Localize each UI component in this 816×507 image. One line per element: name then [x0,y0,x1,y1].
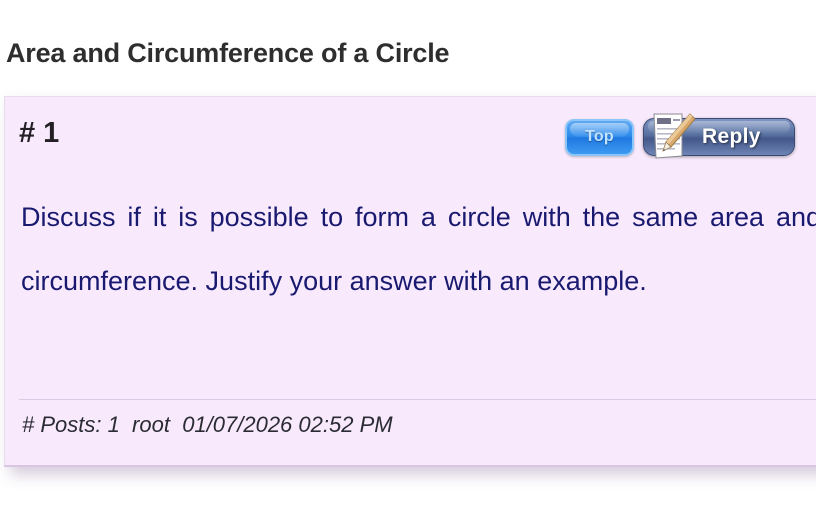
post-card: # 1 Top [4,96,816,467]
reply-button-label: Reply [702,125,761,149]
post-action-buttons: Top [565,118,795,156]
document-pencil-icon [646,110,698,162]
post-header: # 1 Top [5,97,816,173]
top-button-label: Top [585,128,614,146]
reply-button[interactable]: Reply [643,118,795,156]
post-number: # 1 [19,117,59,150]
top-button[interactable]: Top [565,119,634,156]
post-meta: # Posts: 1 root 01/07/2026 02:52 PM [22,412,393,438]
post-body-text: Discuss if it is possible to form a circ… [21,185,816,313]
post-divider [19,399,816,400]
forum-post-page: Area and Circumference of a Circle # 1 T… [0,0,816,507]
page-title: Area and Circumference of a Circle [6,38,449,69]
